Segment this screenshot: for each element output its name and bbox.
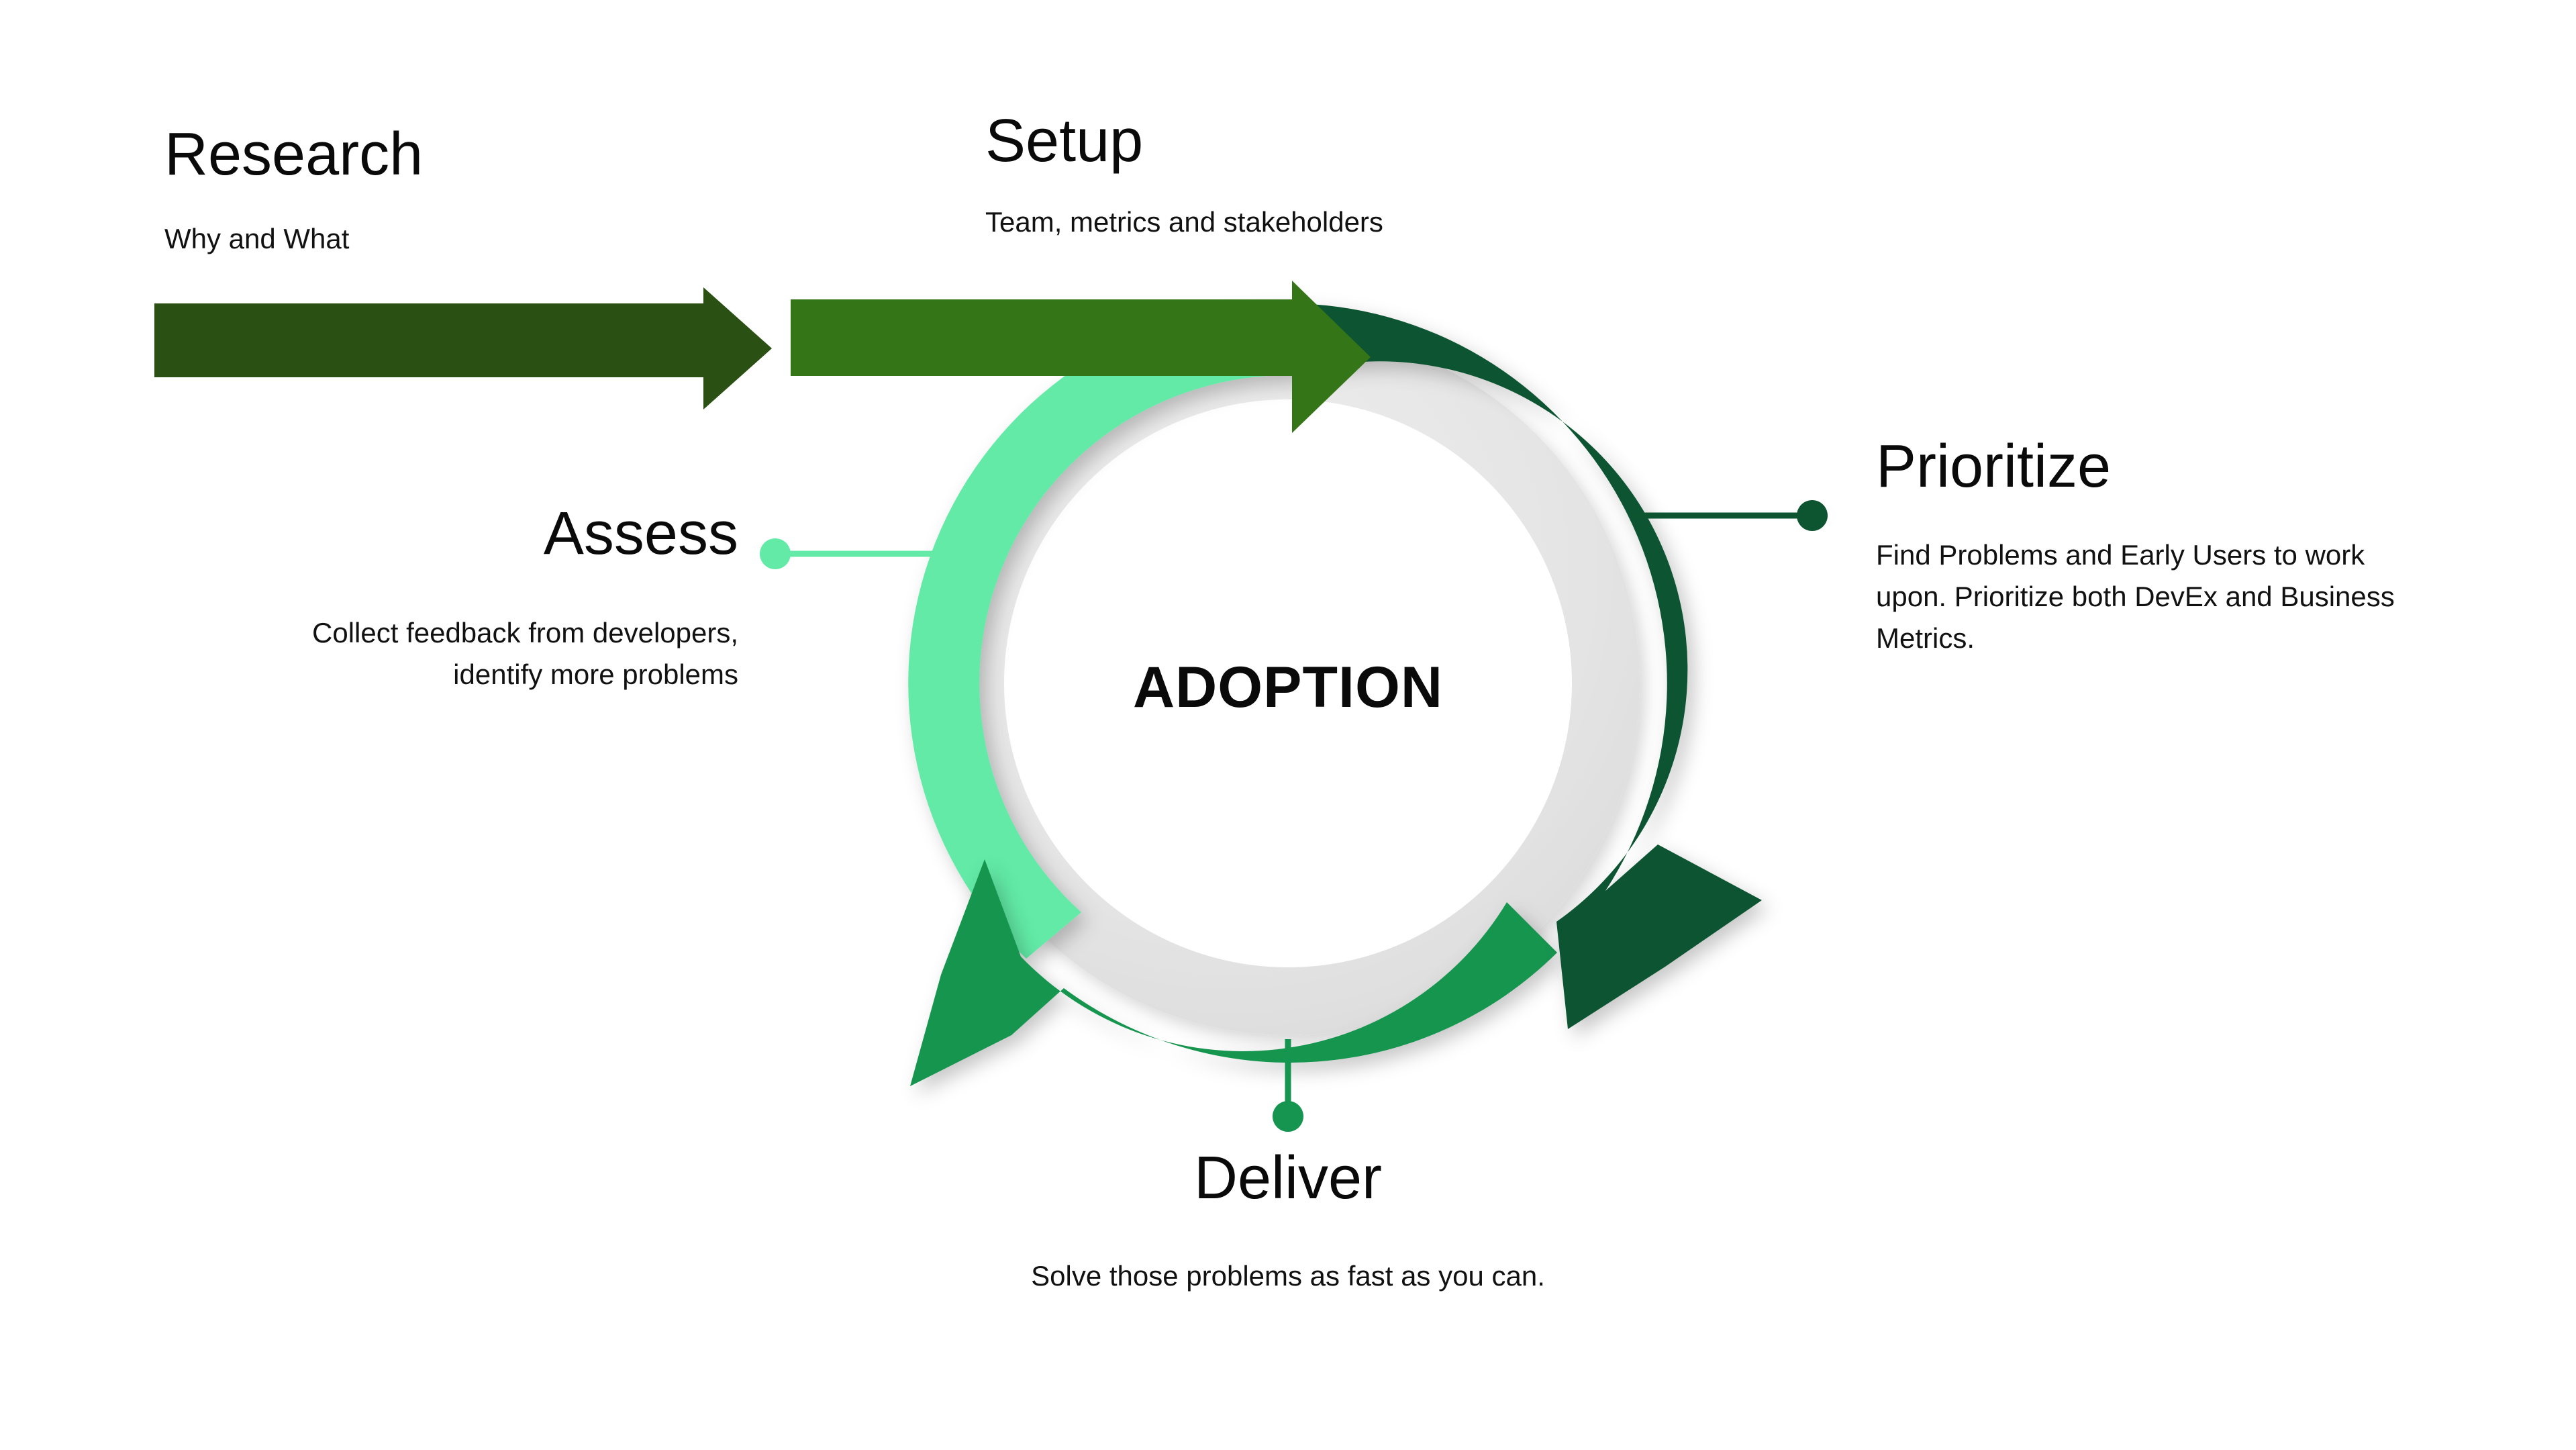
- prioritize-connector: [1632, 500, 1828, 531]
- stage-label-deliver[interactable]: Deliver Solve those problems as fast as …: [1020, 1148, 1556, 1297]
- stage-title-prioritize: Prioritize: [1876, 436, 2433, 497]
- stage-description-deliver: Solve those problems as fast as you can.: [1020, 1255, 1556, 1297]
- stage-title-setup: Setup: [985, 111, 1383, 171]
- stage-description-setup: Team, metrics and stakeholders: [985, 201, 1383, 243]
- stage-description-assess: Collect feedback from developers, identi…: [228, 612, 738, 695]
- stage-title-research: Research: [164, 124, 423, 185]
- stage-description-research: Why and What: [164, 218, 423, 260]
- stage-description-prioritize: Find Problems and Early Users to work up…: [1876, 534, 2433, 659]
- stage-title-deliver: Deliver: [1020, 1148, 1556, 1208]
- stage-label-prioritize[interactable]: Prioritize Find Problems and Early Users…: [1876, 436, 2433, 659]
- center-label-adoption: ADOPTION: [952, 655, 1624, 721]
- stage-label-setup[interactable]: Setup Team, metrics and stakeholders: [985, 111, 1383, 243]
- stage-label-assess[interactable]: Assess Collect feedback from developers,…: [228, 503, 738, 695]
- assess-connector: [760, 538, 936, 569]
- stage-label-research[interactable]: Research Why and What: [164, 124, 423, 260]
- stage-title-assess: Assess: [228, 503, 738, 564]
- research-arrow: [154, 287, 772, 409]
- diagram-canvas: ADOPTION Research Why and What Setup Tea…: [0, 0, 2576, 1450]
